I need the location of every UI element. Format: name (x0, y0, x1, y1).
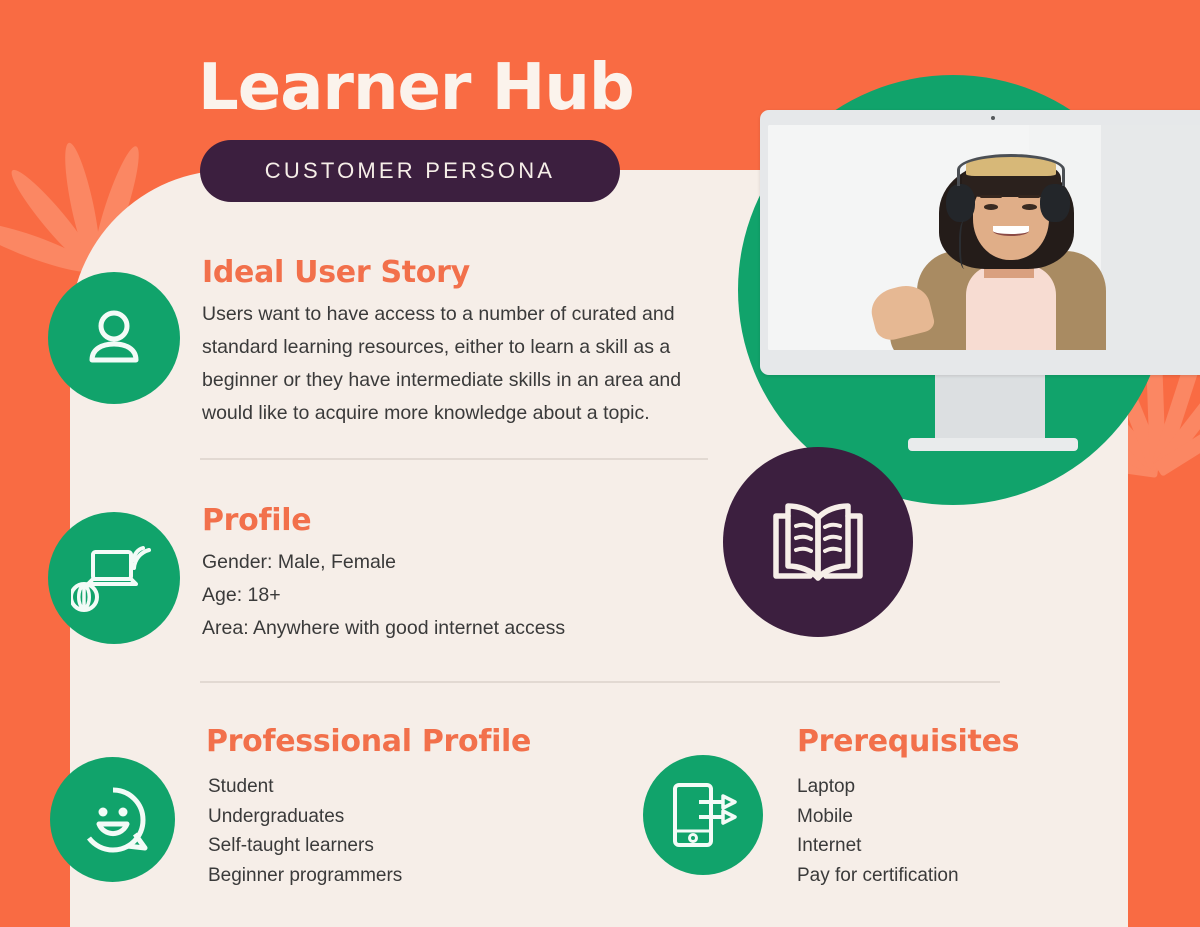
photo-headphone-right (1040, 184, 1069, 222)
prerequisites-line: Pay for certification (797, 861, 1097, 891)
photo-headphone-cord (959, 220, 973, 270)
photo-eye-right (1022, 204, 1036, 210)
smiley-speech-bubble-icon-circle (50, 757, 175, 882)
professional-profile-line: Self-taught learners (208, 831, 628, 861)
open-book-icon (766, 496, 870, 588)
learner-photo (768, 125, 1200, 350)
subtitle-badge-label: CUSTOMER PERSONA (265, 158, 555, 184)
person-icon-circle (48, 272, 180, 404)
section-heading-profile: Profile (202, 503, 311, 538)
laptop-wifi-globe-icon-circle (48, 512, 180, 644)
professional-profile-line: Beginner programmers (208, 861, 628, 891)
section-body-professional-profile: Student Undergraduates Self-taught learn… (208, 772, 628, 890)
section-heading-professional-profile: Professional Profile (206, 724, 531, 759)
profile-line: Age: 18+ (202, 579, 662, 612)
photo-headphone-band (957, 154, 1065, 186)
monitor-screen (768, 125, 1200, 350)
laptop-wifi-globe-icon (71, 538, 157, 618)
professional-profile-line: Student (208, 772, 628, 802)
profile-line: Gender: Male, Female (202, 546, 662, 579)
section-divider-1 (200, 458, 708, 460)
mobile-arrows-icon-circle (643, 755, 763, 875)
section-heading-prerequisites: Prerequisites (797, 724, 1019, 759)
subtitle-badge: CUSTOMER PERSONA (200, 140, 620, 202)
monitor-illustration (760, 110, 1200, 450)
mobile-arrows-icon (665, 777, 741, 853)
section-divider-2 (200, 681, 1000, 683)
photo-eyebrow-right (1018, 195, 1041, 198)
section-body-prerequisites: Laptop Mobile Internet Pay for certifica… (797, 772, 1097, 890)
section-heading-ideal-user-story: Ideal User Story (202, 255, 470, 290)
monitor-stand-foot (908, 438, 1078, 451)
photo-eyebrow-left (980, 195, 1003, 198)
photo-wall-right (1101, 125, 1200, 350)
smiley-speech-bubble-icon (75, 782, 151, 858)
book-badge (723, 447, 913, 637)
webcam-icon (991, 116, 995, 120)
prerequisites-line: Mobile (797, 802, 1097, 832)
professional-profile-line: Undergraduates (208, 802, 628, 832)
monitor-body (760, 110, 1200, 375)
photo-eye-left (984, 204, 998, 210)
photo-headphone-left (946, 184, 975, 222)
infographic-canvas: Learner Hub CUSTOMER PERSONA (0, 0, 1200, 927)
section-body-ideal-user-story: Users want to have access to a number of… (202, 298, 702, 430)
prerequisites-line: Internet (797, 831, 1097, 861)
page-title: Learner Hub (198, 55, 634, 122)
profile-line: Area: Anywhere with good internet access (202, 612, 662, 645)
prerequisites-line: Laptop (797, 772, 1097, 802)
person-icon (80, 304, 148, 372)
monitor-stand-neck (935, 368, 1045, 446)
section-body-profile: Gender: Male, Female Age: 18+ Area: Anyw… (202, 546, 662, 645)
